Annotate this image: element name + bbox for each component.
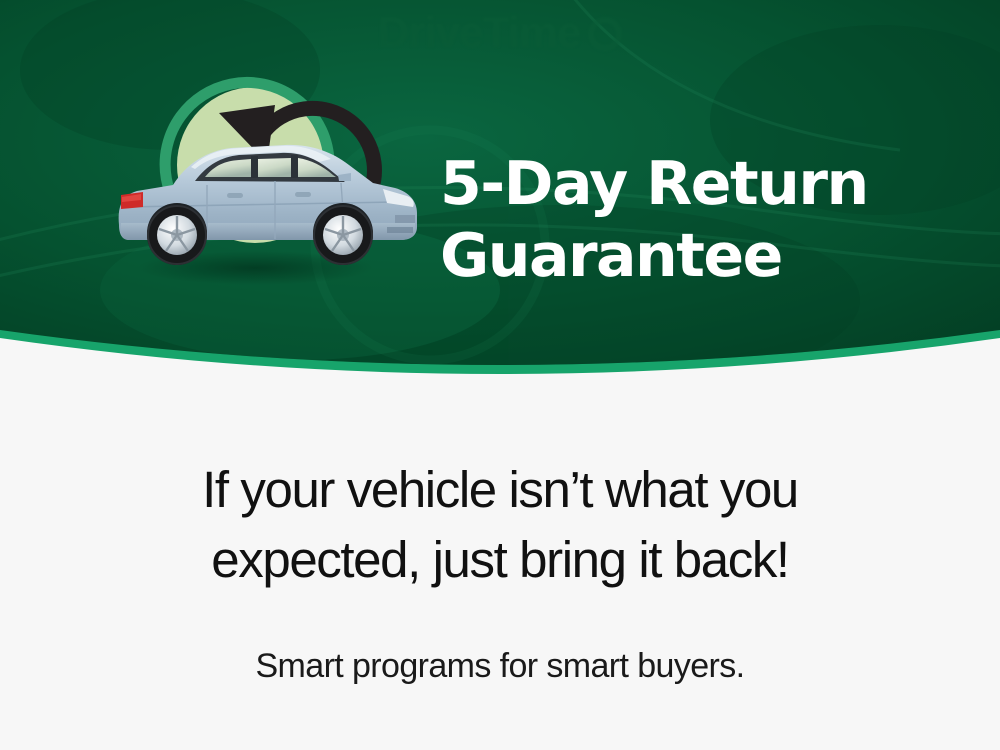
return-graphic <box>95 55 440 305</box>
promo-copy-block: If your vehicle isn’t what you expected,… <box>0 455 1000 687</box>
promo-tagline: Smart programs for smart buyers. <box>0 595 1000 687</box>
promo-lede: If your vehicle isn’t what you expected,… <box>0 455 1000 595</box>
promo-lede-line-2: expected, just bring it back! <box>70 525 930 595</box>
rear-wheel <box>147 205 207 265</box>
promo-lede-line-1: If your vehicle isn’t what you <box>70 455 930 525</box>
front-wheel <box>313 205 373 265</box>
headline-line-1: 5-Day Return <box>440 148 980 220</box>
hero-headline: 5-Day Return Guarantee <box>440 148 980 292</box>
hero-banner: DriveTime <box>0 0 1000 395</box>
headline-line-2: Guarantee <box>440 220 980 292</box>
promo-banner: DriveTime <box>0 0 1000 750</box>
